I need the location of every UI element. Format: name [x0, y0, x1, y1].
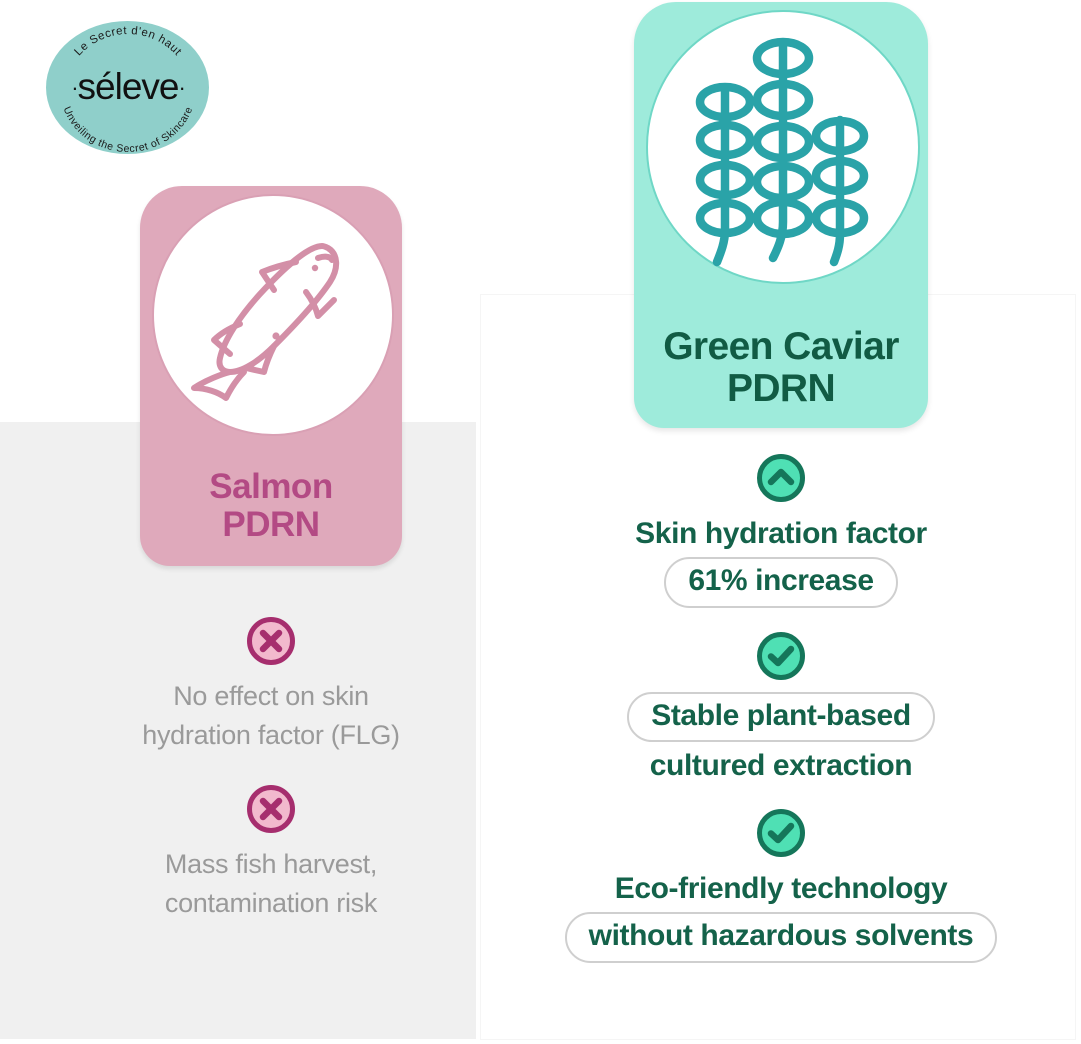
green-feature-1: Skin hydration factor 61% increase — [500, 452, 1062, 608]
salmon-feature-list: No effect on skin hydration factor (FLG)… — [80, 615, 462, 952]
green-caviar-pdrn-card: Green Caviar PDRN — [634, 2, 928, 428]
x-circle-icon — [245, 783, 297, 835]
salmon-feature-1-line2: hydration factor (FLG) — [80, 716, 462, 755]
x-circle-icon — [245, 615, 297, 667]
green-feature-2: Stable plant-based cultured extraction — [500, 630, 1062, 786]
brand-logo: Le Secret d'en haut Unveiling the Secret… — [44, 18, 212, 158]
green-feature-2-line2: cultured extraction — [500, 746, 1062, 785]
green-feature-3: Eco-friendly technology without hazardou… — [500, 807, 1062, 963]
green-feature-3-line1: Eco-friendly technology — [500, 869, 1062, 908]
green-card-title: Green Caviar PDRN — [634, 326, 928, 410]
chevron-up-circle-icon — [755, 452, 807, 504]
logo-tagline-bottom: Unveiling the Secret of Skincare — [61, 105, 196, 155]
sea-grapes-icon — [668, 22, 898, 272]
green-caviar-feature-list: Skin hydration factor 61% increase Stabl… — [500, 452, 1062, 991]
fish-icon — [178, 220, 368, 410]
salmon-feature-2-line1: Mass fish harvest, — [80, 845, 462, 884]
salmon-feature-1-line1: No effect on skin — [80, 677, 462, 716]
green-title-line2: PDRN — [634, 368, 928, 410]
green-caviar-icon-circle — [646, 10, 920, 284]
salmon-pdrn-card: Salmon PDRN — [140, 186, 402, 566]
salmon-title-line1: Salmon — [140, 468, 402, 506]
salmon-title-line2: PDRN — [140, 506, 402, 544]
salmon-card-title: Salmon PDRN — [140, 468, 402, 544]
green-feature-2-line1-pill: Stable plant-based — [627, 692, 935, 743]
logo-tagline-top: Le Secret d'en haut — [72, 25, 183, 58]
green-feature-3-line2-pill: without hazardous solvents — [565, 912, 998, 963]
infographic-canvas: Le Secret d'en haut Unveiling the Secret… — [0, 0, 1081, 1044]
salmon-feature-1: No effect on skin hydration factor (FLG) — [80, 615, 462, 755]
check-circle-icon — [755, 630, 807, 682]
logo-wordmark: ·séleve· — [71, 66, 185, 107]
logo-text-svg: Le Secret d'en haut Unveiling the Secret… — [44, 18, 212, 158]
svg-text:Le Secret d'en haut: Le Secret d'en haut — [72, 25, 183, 58]
green-feature-1-line1: Skin hydration factor — [500, 514, 1062, 553]
logo-wordmark-text: séleve — [78, 66, 179, 107]
salmon-icon-circle — [152, 194, 394, 436]
green-title-line1: Green Caviar — [634, 326, 928, 368]
green-feature-1-line2-pill: 61% increase — [664, 557, 897, 608]
salmon-feature-1-text: No effect on skin hydration factor (FLG) — [80, 677, 462, 755]
check-circle-icon — [755, 807, 807, 859]
salmon-feature-2-text: Mass fish harvest, contamination risk — [80, 845, 462, 923]
svg-text:Unveiling the Secret of Skinca: Unveiling the Secret of Skincare — [61, 105, 196, 155]
salmon-feature-2-line2: contamination risk — [80, 884, 462, 923]
salmon-feature-2: Mass fish harvest, contamination risk — [80, 783, 462, 923]
